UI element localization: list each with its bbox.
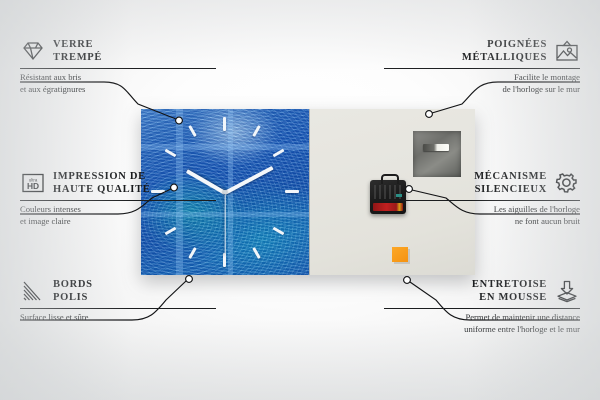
feature-header: MÉCANISME SILENCIEUX — [384, 170, 580, 196]
feature-title: IMPRESSION DE HAUTE QUALITÉ — [53, 170, 151, 196]
feature-header: ENTRETOISE EN MOUSSE — [384, 278, 580, 304]
feature-title: POIGNÉES MÉTALLIQUES — [462, 38, 547, 64]
feature-subtitle: Permet de maintenir une distance uniform… — [384, 312, 580, 335]
feature-title: VERRE TREMPÉ — [53, 38, 102, 64]
feature-bords-polis: BORDS POLIS Surface lisse et sûre — [20, 278, 216, 324]
clock-center-pin — [223, 190, 227, 194]
diamond-icon — [20, 39, 46, 63]
panel-seam — [309, 109, 310, 275]
infographic-canvas: VERRE TREMPÉ Résistant aux bris et aux é… — [0, 0, 600, 400]
feature-header: ultra HD IMPRESSION DE HAUTE QUALITÉ — [20, 170, 216, 196]
divider — [384, 308, 580, 309]
hanger-slot — [423, 144, 449, 151]
foam-spacer — [392, 247, 408, 262]
feature-verre-trempe: VERRE TREMPÉ Résistant aux bris et aux é… — [20, 38, 216, 95]
clock-tick — [285, 190, 299, 193]
polished-edge-icon — [20, 279, 46, 303]
second-hand — [224, 193, 225, 256]
feature-header: BORDS POLIS — [20, 278, 216, 304]
ultra-hd-badge-bottom: HD — [27, 181, 39, 191]
feature-mecanisme-silencieux: MÉCANISME SILENCIEUX Les aiguilles de l'… — [384, 170, 580, 227]
feature-header: VERRE TREMPÉ — [20, 38, 216, 64]
feature-title: MÉCANISME SILENCIEUX — [474, 170, 547, 196]
feature-title: ENTRETOISE EN MOUSSE — [472, 278, 547, 304]
divider — [384, 68, 580, 69]
feature-entretoise-en-mousse: ENTRETOISE EN MOUSSE Permet de maintenir… — [384, 278, 580, 335]
divider — [384, 200, 580, 201]
feature-impression-haute-qualite: ultra HD IMPRESSION DE HAUTE QUALITÉ Cou… — [20, 170, 216, 227]
divider — [20, 308, 216, 309]
feature-subtitle: Facilite le montage de l'horloge sur le … — [384, 72, 580, 95]
feature-title: BORDS POLIS — [53, 278, 93, 304]
ultra-hd-icon: ultra HD — [20, 171, 46, 195]
divider — [20, 200, 216, 201]
feature-subtitle: Couleurs intenses et image claire — [20, 204, 216, 227]
divider — [20, 68, 216, 69]
clock-tick — [223, 117, 226, 131]
feature-header: POIGNÉES MÉTALLIQUES — [384, 38, 580, 64]
foam-spacer-icon — [554, 279, 580, 303]
picture-hanger-icon — [554, 39, 580, 63]
feature-subtitle: Résistant aux bris et aux égratignures — [20, 72, 216, 95]
feature-subtitle: Surface lisse et sûre — [20, 312, 216, 323]
feature-subtitle: Les aiguilles de l'horloge ne font aucun… — [384, 204, 580, 227]
gear-icon — [554, 171, 580, 195]
feature-poignees-metalliques: POIGNÉES MÉTALLIQUES Facilite le montage… — [384, 38, 580, 95]
